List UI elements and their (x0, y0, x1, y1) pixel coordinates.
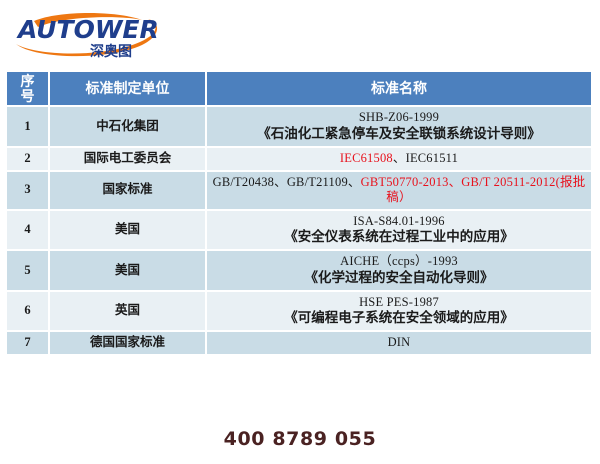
cell-organization: 国际电工委员会 (49, 147, 206, 171)
standard-code: AICHE（ccps）-1993 (212, 254, 586, 270)
cell-sequence: 7 (6, 331, 49, 355)
cell-organization: 美国 (49, 210, 206, 251)
table-header: 序 号 标准制定单位 标准名称 (6, 71, 592, 106)
cell-organization: 国家标准 (49, 171, 206, 210)
cell-organization: 美国 (49, 250, 206, 291)
standard-title-cn: 《石油化工紧急停车及安全联锁系统设计导则》 (212, 126, 586, 143)
cell-standard-name: IEC61508、IEC61511 (206, 147, 592, 171)
standard-code: ISA-S84.01-1996 (212, 214, 586, 230)
cell-standard-name: SHB-Z06-1999 《石油化工紧急停车及安全联锁系统设计导则》 (206, 106, 592, 147)
logo-wordmark: AUTOWER (16, 15, 159, 44)
standard-code: GB/T20438、GB/T21109、 (213, 175, 361, 189)
cell-sequence: 3 (6, 171, 49, 210)
logo-chinese-name: 深奥图 (90, 43, 132, 60)
table-row: 1 中石化集团 SHB-Z06-1999 《石油化工紧急停车及安全联锁系统设计导… (6, 106, 592, 147)
contact-phone-number: 400 8789 055 (0, 428, 600, 450)
standard-title-cn: 《化学过程的安全自动化导则》 (212, 270, 586, 287)
column-header-standard-name: 标准名称 (206, 71, 592, 106)
standard-code-line: IEC61508、IEC61511 (212, 151, 586, 167)
standard-code: DIN (212, 335, 586, 351)
company-logo: AUTOWER 深奥图 (8, 8, 178, 62)
cell-organization: 英国 (49, 291, 206, 332)
table-row: 5 美国 AICHE（ccps）-1993 《化学过程的安全自动化导则》 (6, 250, 592, 291)
column-header-sequence-char2: 号 (11, 89, 44, 104)
cell-sequence: 2 (6, 147, 49, 171)
standard-code-highlighted: GBT50770-2013、GB/T 20511-2012(报批稿） (361, 175, 586, 205)
table-row: 3 国家标准 GB/T20438、GB/T21109、GBT50770-2013… (6, 171, 592, 210)
column-header-sequence-char1: 序 (11, 74, 44, 89)
column-header-organization: 标准制定单位 (49, 71, 206, 106)
cell-organization: 中石化集团 (49, 106, 206, 147)
cell-standard-name: GB/T20438、GB/T21109、GBT50770-2013、GB/T 2… (206, 171, 592, 210)
standards-table-container: 序 号 标准制定单位 标准名称 1 中石化集团 SHB-Z06-1999 《石油… (5, 70, 591, 356)
cell-standard-name: DIN (206, 331, 592, 355)
standard-title-cn: 《安全仪表系统在过程工业中的应用》 (212, 229, 586, 246)
cell-sequence: 6 (6, 291, 49, 332)
standard-title-cn: 《可编程电子系统在安全领域的应用》 (212, 310, 586, 327)
cell-standard-name: AICHE（ccps）-1993 《化学过程的安全自动化导则》 (206, 250, 592, 291)
standard-code: 、IEC61511 (393, 151, 458, 165)
standard-code-line: GB/T20438、GB/T21109、GBT50770-2013、GB/T 2… (212, 175, 586, 206)
table-row: 4 美国 ISA-S84.01-1996 《安全仪表系统在过程工业中的应用》 (6, 210, 592, 251)
table-body: 1 中石化集团 SHB-Z06-1999 《石油化工紧急停车及安全联锁系统设计导… (6, 106, 592, 355)
header-row: 序 号 标准制定单位 标准名称 (6, 71, 592, 106)
cell-sequence: 5 (6, 250, 49, 291)
cell-sequence: 4 (6, 210, 49, 251)
standard-code-highlighted: IEC61508 (340, 151, 393, 165)
cell-standard-name: ISA-S84.01-1996 《安全仪表系统在过程工业中的应用》 (206, 210, 592, 251)
column-header-sequence: 序 号 (6, 71, 49, 106)
logo-svg: AUTOWER 深奥图 (8, 8, 178, 62)
cell-sequence: 1 (6, 106, 49, 147)
cell-organization: 德国国家标准 (49, 331, 206, 355)
table-row: 7 德国国家标准 DIN (6, 331, 592, 355)
table-row: 6 英国 HSE PES-1987 《可编程电子系统在安全领域的应用》 (6, 291, 592, 332)
standards-table: 序 号 标准制定单位 标准名称 1 中石化集团 SHB-Z06-1999 《石油… (5, 70, 593, 356)
standard-code: HSE PES-1987 (212, 295, 586, 311)
cell-standard-name: HSE PES-1987 《可编程电子系统在安全领域的应用》 (206, 291, 592, 332)
standard-code: SHB-Z06-1999 (212, 110, 586, 126)
table-row: 2 国际电工委员会 IEC61508、IEC61511 (6, 147, 592, 171)
